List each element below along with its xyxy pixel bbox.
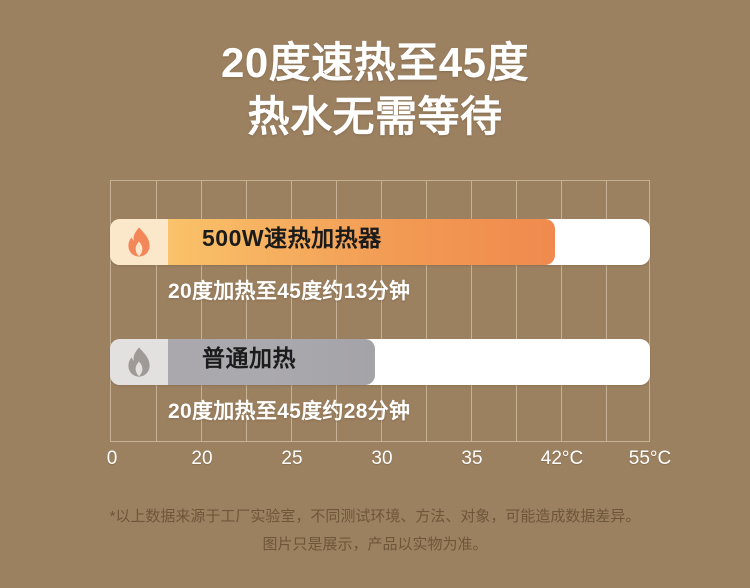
axis-tick-55c: 55°C: [629, 448, 671, 470]
headline-line-2: 热水无需等待: [0, 92, 750, 142]
axis-tick-35: 35: [461, 448, 482, 470]
bar-icon-pad: [110, 219, 168, 265]
bar-row-normal-heater: 普通加热 20度加热至45度约28分钟: [110, 339, 650, 425]
flame-icon: [126, 347, 152, 377]
x-axis: 0 20 25 30 35 42°C 55°C: [100, 448, 660, 474]
axis-tick-30: 30: [371, 448, 392, 470]
footnote-line-1: *以上数据来源于工厂实验室，不同测试环境、方法、对象，可能造成数据差异。: [0, 503, 750, 531]
bar-label-normal-heater: 普通加热: [202, 339, 296, 373]
bar-track: 普通加热: [110, 339, 650, 385]
footnotes: *以上数据来源于工厂实验室，不同测试环境、方法、对象，可能造成数据差异。 图片只…: [0, 503, 750, 559]
headline-line-1: 20度速热至45度: [0, 38, 750, 88]
product-infographic: 20度速热至45度 热水无需等待: [0, 0, 750, 588]
bar-caption-normal-heater: 20度加热至45度约28分钟: [110, 395, 650, 425]
comparison-bar-chart: 500W速热加热器 20度加热至45度约13分钟 普通加热 20度加热至45度约…: [110, 180, 650, 442]
bar-caption-fast-heater: 20度加热至45度约13分钟: [110, 275, 650, 305]
axis-tick-42c: 42°C: [541, 448, 583, 470]
bar-row-fast-heater: 500W速热加热器 20度加热至45度约13分钟: [110, 219, 650, 305]
axis-tick-25: 25: [281, 448, 302, 470]
page-title: 20度速热至45度 热水无需等待: [0, 38, 750, 141]
flame-icon: [126, 227, 152, 257]
axis-tick-0: 0: [107, 448, 118, 470]
footnote-line-2: 图片只是展示，产品以实物为准。: [0, 531, 750, 559]
bar-track: 500W速热加热器: [110, 219, 650, 265]
bar-icon-pad: [110, 339, 168, 385]
bar-label-fast-heater: 500W速热加热器: [202, 219, 382, 253]
axis-tick-20: 20: [191, 448, 212, 470]
